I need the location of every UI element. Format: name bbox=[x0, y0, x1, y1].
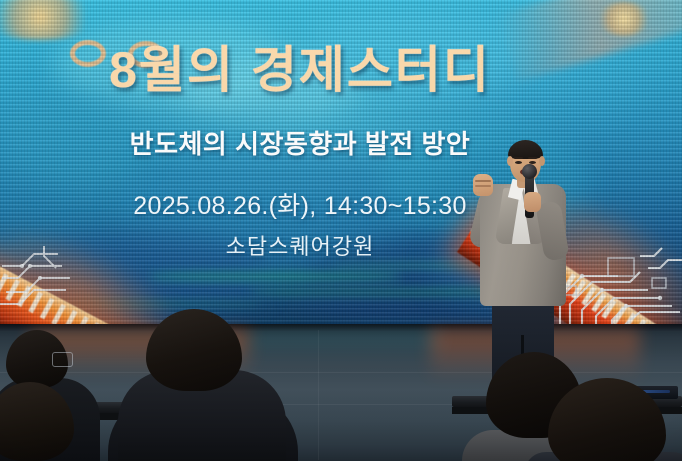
photo-scene: 8월의 경제스터디 반도체의 시장동향과 발전 방안 2025.08.26.(화… bbox=[0, 0, 682, 461]
speaker-knuckle-line bbox=[475, 185, 491, 187]
speaker-figure bbox=[466, 140, 582, 388]
speaker-eyebrow-left bbox=[514, 157, 523, 159]
microphone-head bbox=[522, 164, 537, 179]
speaker-knuckle-line bbox=[475, 180, 491, 182]
floor-panel-line bbox=[318, 330, 319, 460]
speaker-hand-holding-mic bbox=[524, 192, 541, 212]
floor-reflection-center bbox=[250, 330, 440, 360]
speaker-eyebrow-right bbox=[528, 157, 537, 159]
poster-title: 8월의 경제스터디 bbox=[0, 30, 600, 102]
speaker-ear-left bbox=[507, 156, 513, 166]
speaker-eye-left bbox=[515, 161, 522, 164]
speaker-ear-right bbox=[539, 156, 545, 166]
speaker-hair bbox=[508, 140, 543, 159]
attendee-eyeglasses bbox=[52, 352, 73, 367]
